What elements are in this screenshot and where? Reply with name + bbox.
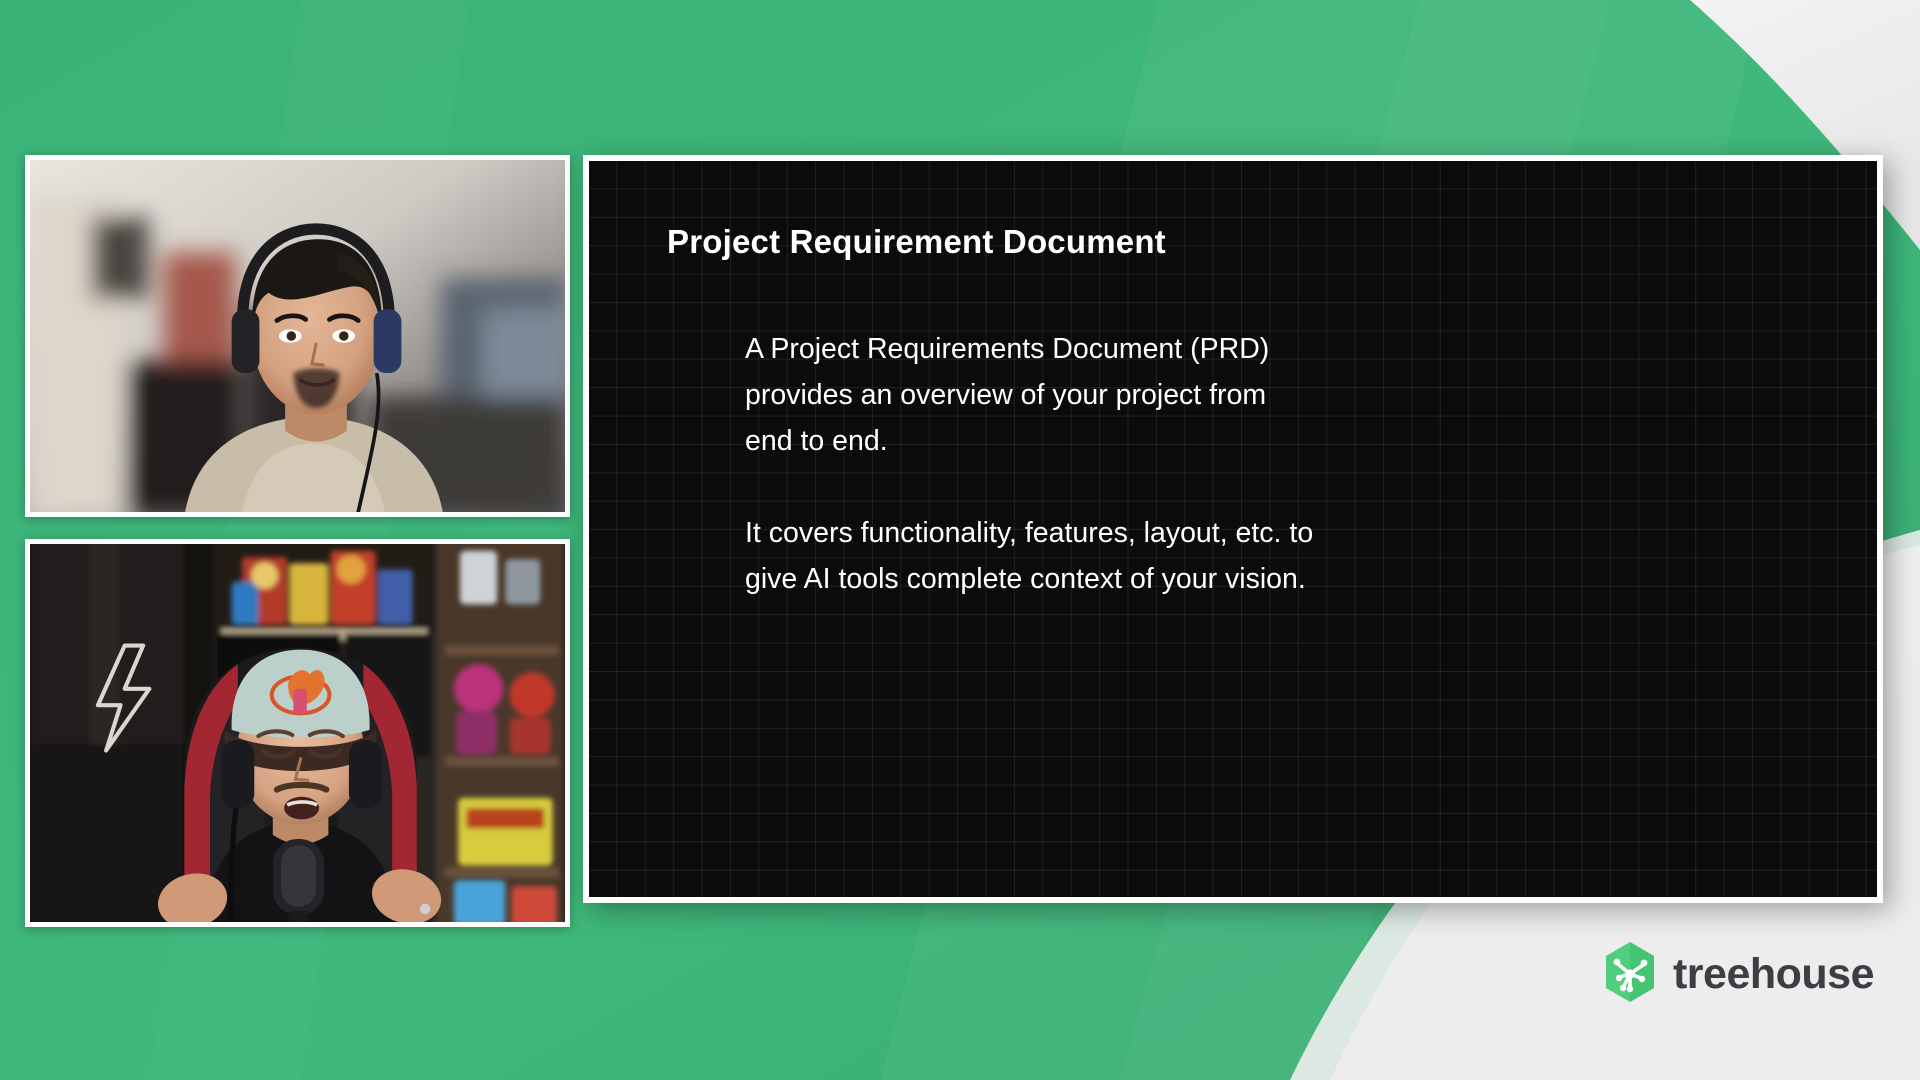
paragraph-line: provides an overview of your project fro…: [745, 372, 1745, 418]
camera-primary-image: [30, 160, 565, 512]
camera-feed-primary[interactable]: [30, 160, 565, 512]
brand-wordmark: treehouse: [1673, 953, 1874, 996]
slide-paragraph-coverage: It covers functionality, features, layou…: [745, 510, 1745, 602]
camera-column: [25, 155, 570, 927]
camera-tile-primary[interactable]: [25, 155, 570, 517]
treehouse-leaf-icon: [1602, 941, 1658, 1008]
slide-frame[interactable]: Project Requirement Document A Project R…: [583, 155, 1883, 903]
camera-secondary-image: [30, 544, 565, 922]
paragraph-line: end to end.: [745, 418, 1745, 464]
brand-lockup: treehouse: [1602, 941, 1874, 1008]
paragraph-line: It covers functionality, features, layou…: [745, 510, 1745, 556]
paragraph-line: A Project Requirements Document (PRD): [745, 326, 1745, 372]
camera-tile-secondary[interactable]: [25, 539, 570, 927]
treehouse-leaf-icon-svg: [1602, 941, 1658, 1003]
slide-surface[interactable]: Project Requirement Document A Project R…: [589, 161, 1877, 897]
paragraph-line: give AI tools complete context of your v…: [745, 556, 1745, 602]
slide-paragraph-definition: A Project Requirements Document (PRD) pr…: [745, 326, 1745, 464]
camera-feed-secondary[interactable]: [30, 544, 565, 922]
slide-title: Project Requirement Document: [667, 223, 1166, 261]
slide-body: A Project Requirements Document (PRD) pr…: [745, 326, 1745, 602]
